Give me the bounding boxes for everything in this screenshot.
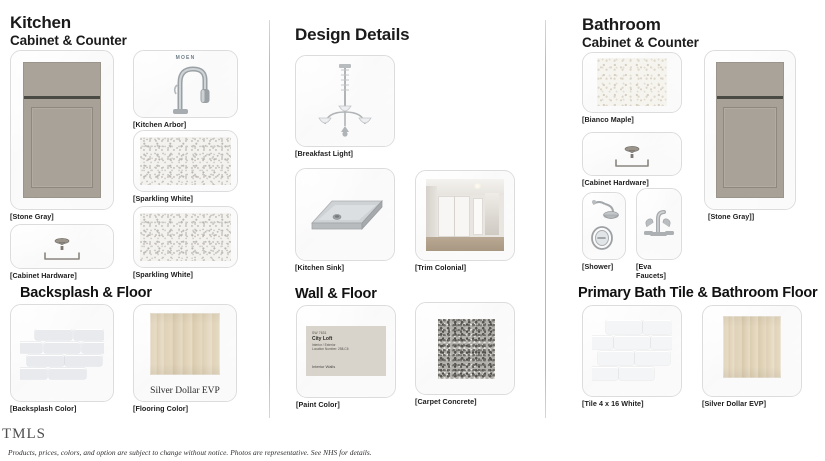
design-details-title: Design Details [295, 26, 409, 44]
bath-stone-gray-door-art [716, 62, 784, 198]
kitchen-title: Kitchen [10, 14, 127, 32]
caption-cabinet-hardware: [Cabinet Hardware] [10, 271, 114, 280]
caption-bath-tile: [Tile 4 x 16 White] [582, 399, 682, 408]
bath-knob-and-pull-art [583, 133, 681, 175]
brand-logo: TMLS [2, 426, 46, 443]
paint-usage: Interior Walls [312, 364, 335, 369]
swatch-backsplash[interactable] [10, 304, 114, 402]
paint-meta-2: Location Number: 258-C6 [312, 347, 349, 351]
quartz-sample-art [140, 137, 231, 185]
pull-handle-icon [43, 252, 81, 262]
stainless-sink-icon [302, 187, 388, 245]
caption-bath-faucet-line1: [Eva [636, 262, 651, 271]
caption-bath-faucet-line2: Faucets] [636, 271, 666, 280]
knob-icon [52, 237, 72, 253]
bathroom-title: Bathroom [582, 16, 699, 34]
design-section2-title: Wall & Floor [295, 286, 377, 302]
caption-backsplash: [Backsplash Color] [10, 404, 114, 413]
caption-bath-cabinet-door: [Stone Gray]] [708, 212, 796, 221]
disclaimer-text: Products, prices, colors, and option are… [8, 448, 372, 457]
flooring-label: Silver Dollar EVP [134, 386, 236, 396]
caption-kitchen-sink: [Kitchen Sink] [295, 263, 395, 272]
caption-bath-faucet: [Eva Faucets] [636, 262, 682, 280]
paint-name: City Loft [312, 336, 332, 342]
paint-chip-art: SW 7631 City Loft Interior / Exterior Lo… [306, 326, 386, 376]
swatch-countertop-1[interactable] [133, 130, 238, 192]
swatch-countertop-2[interactable] [133, 206, 238, 268]
quartz-sample-art-2 [140, 213, 231, 261]
caption-kitchen-faucet: [Kitchen Arbor] [133, 120, 238, 129]
swatch-bath-faucet[interactable] [636, 188, 682, 260]
pull-handle-icon [614, 159, 650, 169]
swatch-breakfast-light[interactable] [295, 55, 395, 147]
wood-plank-art [150, 313, 220, 375]
caption-paint-color: [Paint Color] [296, 400, 396, 409]
caption-carpet: [Carpet Concrete] [415, 397, 515, 406]
column-divider-2 [545, 20, 546, 418]
caption-countertop-2: [Sparkling White] [133, 270, 238, 279]
kitchen-faucet-icon [155, 61, 217, 117]
caption-trim-colonial: [Trim Colonial] [415, 263, 515, 272]
knob-and-pull-art [11, 225, 113, 268]
column-divider-1 [269, 20, 270, 418]
swatch-trim-colonial[interactable] [415, 170, 515, 261]
swatch-flooring[interactable]: Silver Dollar EVP [133, 304, 237, 402]
caption-bath-cabinet-hardware: [Cabinet Hardware] [582, 178, 682, 187]
swatch-bath-flooring[interactable] [702, 305, 802, 397]
subway-tile-art [20, 329, 104, 381]
bathroom-section2-title: Primary Bath Tile & Bathroom Floor [578, 285, 817, 301]
caption-flooring: [Flooring Color] [133, 404, 237, 413]
stone-gray-door-art [23, 62, 101, 198]
eva-faucet-icon [638, 203, 680, 243]
swatch-bath-cabinet-hardware[interactable] [582, 132, 682, 176]
kitchen-subtitle: Cabinet & Counter [10, 33, 127, 49]
caption-breakfast-light: [Breakfast Light] [295, 149, 395, 158]
bianco-maple-art [597, 58, 667, 106]
caption-cabinet-door: [Stone Gray] [10, 212, 114, 221]
swatch-kitchen-sink[interactable] [295, 168, 395, 261]
swatch-kitchen-faucet[interactable]: MOEN [133, 50, 238, 118]
swatch-cabinet-hardware[interactable] [10, 224, 114, 269]
caption-countertop-1: [Sparkling White] [133, 194, 238, 203]
room-photo-art [426, 179, 504, 251]
swatch-shower[interactable] [582, 192, 626, 260]
design-selection-sheet: Kitchen Cabinet & Counter [Stone Gray] [0, 0, 825, 461]
swatch-bath-cabinet-door[interactable] [704, 50, 796, 210]
swatch-paint-color[interactable]: SW 7631 City Loft Interior / Exterior Lo… [296, 305, 396, 398]
swatch-bath-tile[interactable] [582, 305, 682, 397]
caption-shower: [Shower] [582, 262, 626, 271]
swatch-bath-countertop[interactable] [582, 52, 682, 113]
caption-bath-flooring: [Silver Dollar EVP] [702, 399, 802, 408]
shower-head-icon [585, 196, 623, 256]
caption-bath-countertop: [Bianco Maple] [582, 115, 682, 124]
bath-wood-plank-art [723, 316, 781, 378]
carpet-art [438, 319, 495, 379]
swatch-carpet[interactable] [415, 302, 515, 395]
paint-code: SW 7631 [312, 331, 327, 335]
subway-tile-white-art [592, 320, 672, 382]
swatch-cabinet-door[interactable] [10, 50, 114, 210]
kitchen-section2-title: Backsplash & Floor [20, 285, 152, 301]
chandelier-icon [307, 62, 383, 140]
bathroom-subtitle: Cabinet & Counter [582, 35, 699, 51]
